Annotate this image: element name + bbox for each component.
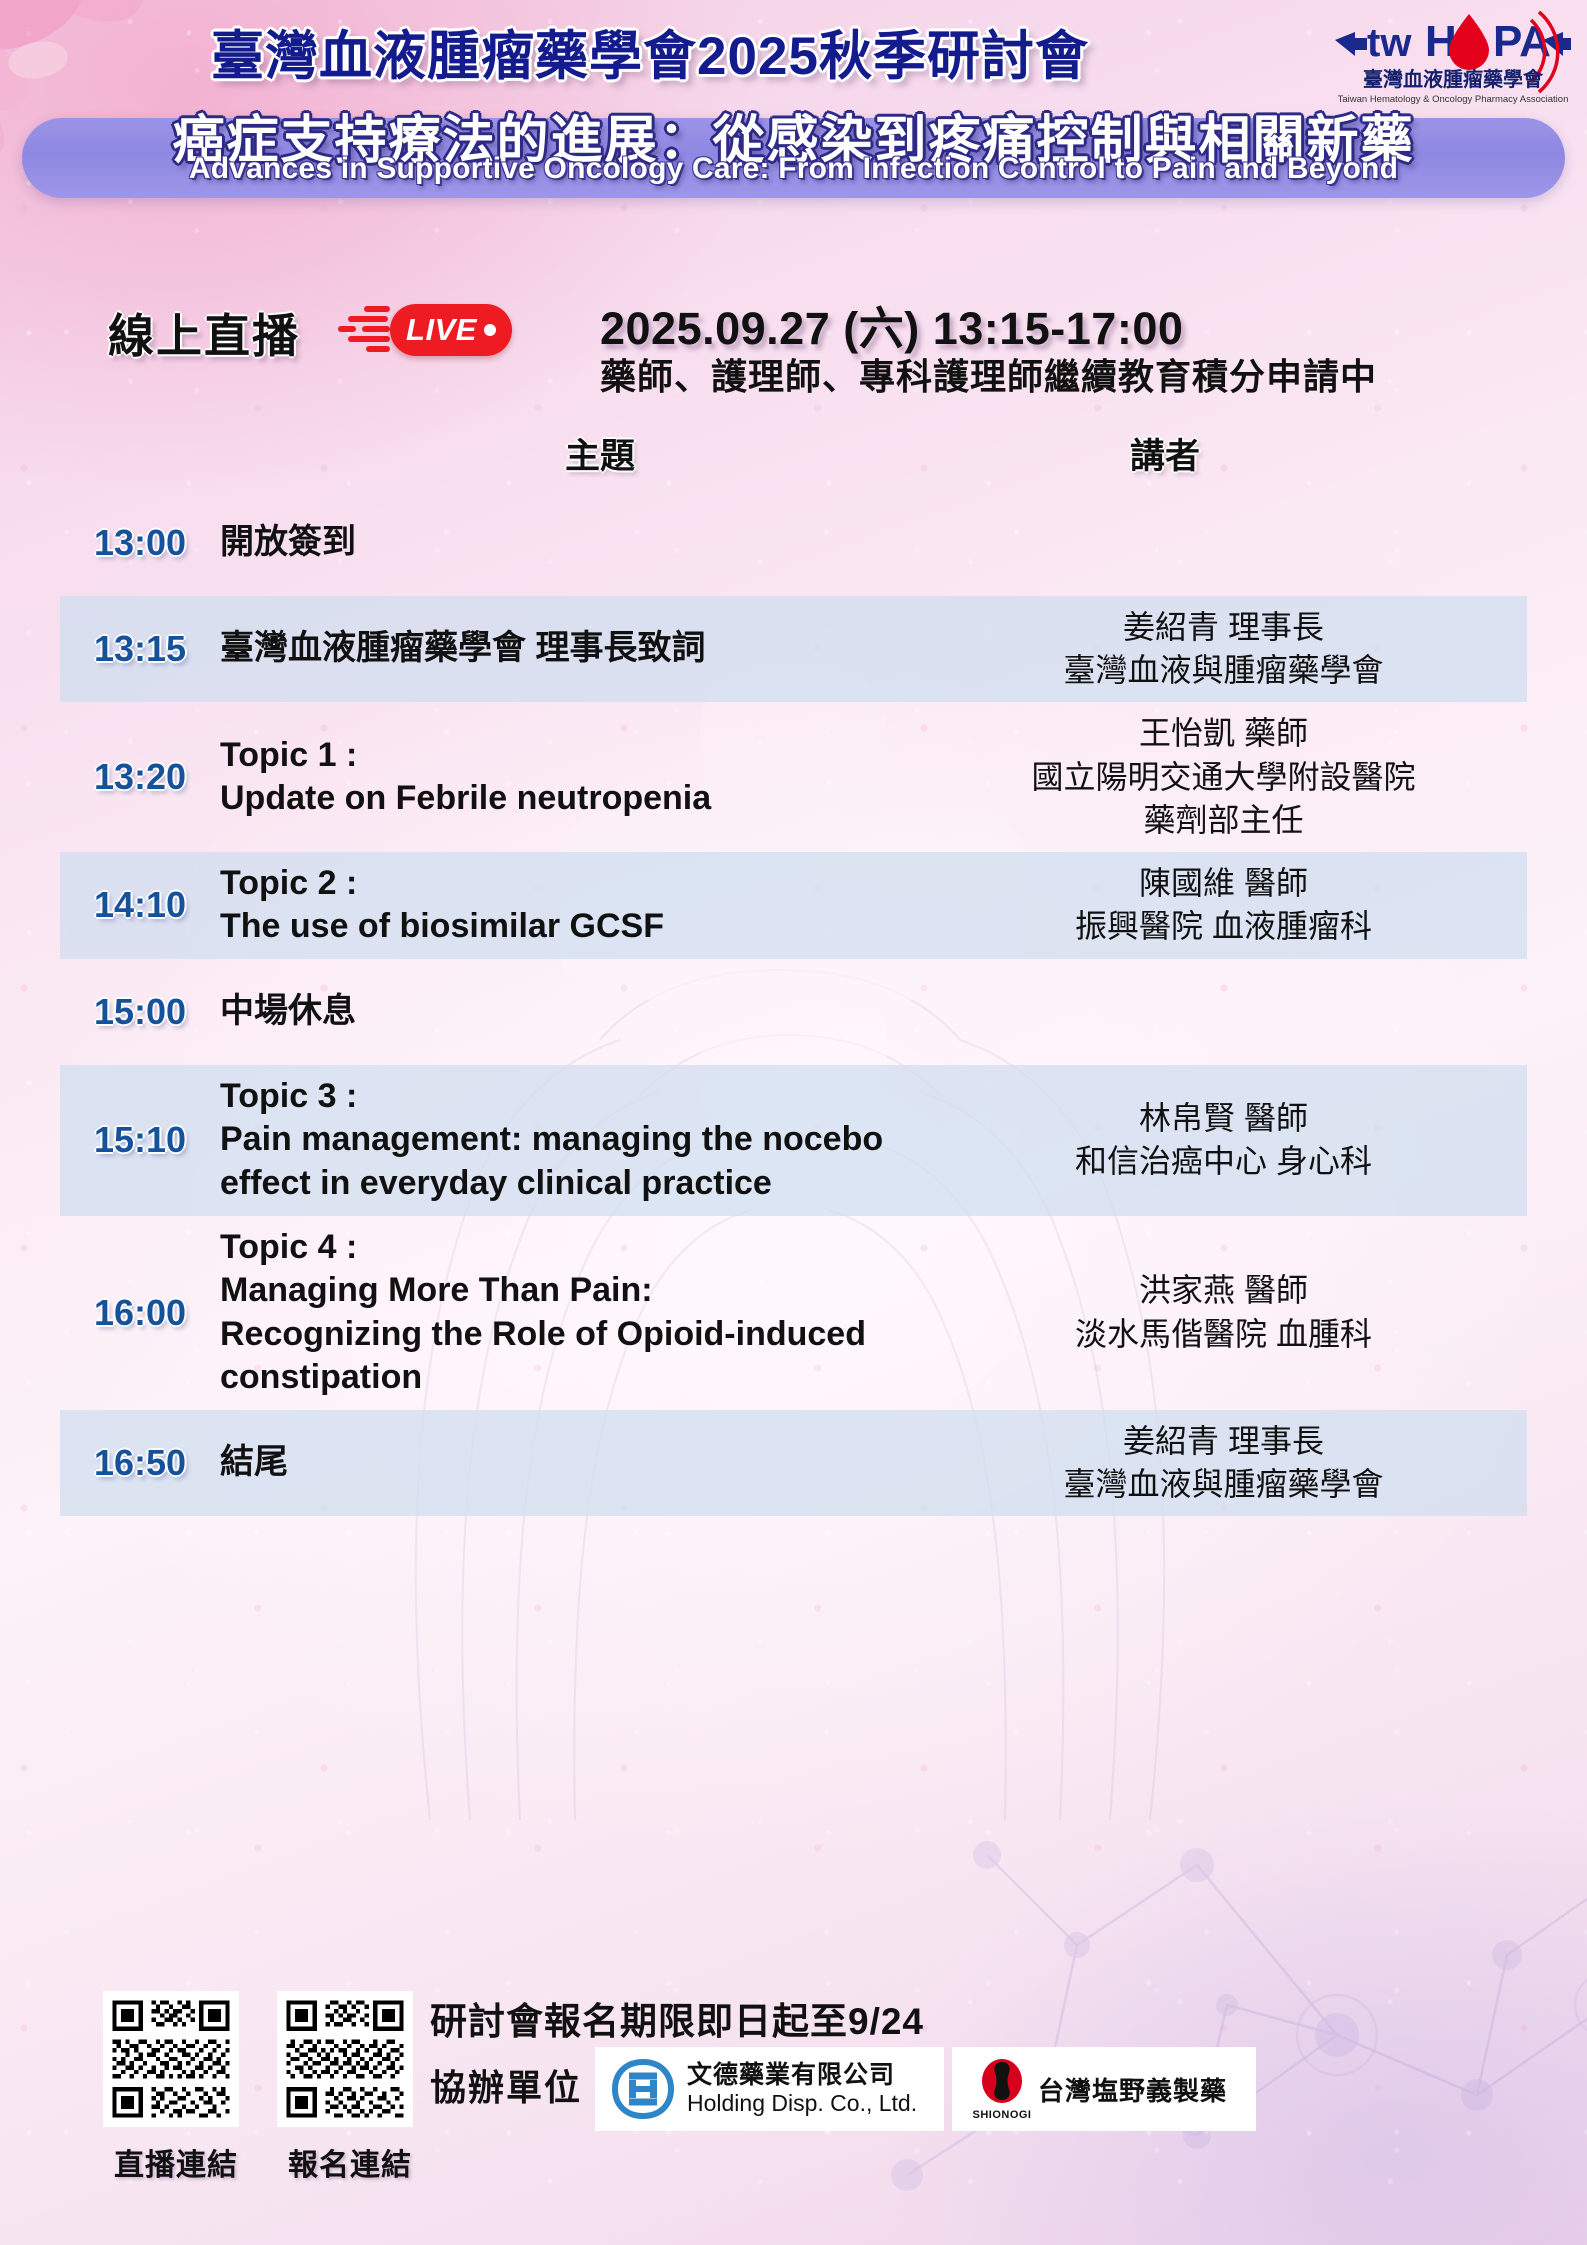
qr-live-caption: 直播連結	[103, 2140, 249, 2184]
row-speaker: 姜紹青 理事長 臺灣血液與腫瘤藥學會	[920, 606, 1527, 692]
row-time: 14:10	[60, 884, 220, 926]
row-topic: 中場休息	[220, 990, 920, 1034]
schedule-row: 16:50結尾姜紹青 理事長 臺灣血液與腫瘤藥學會	[60, 1410, 1527, 1516]
row-topic: Topic 2 : The use of biosimilar GCSF	[220, 862, 920, 949]
sponsor-name-cn: 台灣塩野義製藥	[1038, 2071, 1227, 2108]
row-speaker: 洪家燕 醫師 淡水馬偕醫院 血腫科	[920, 1269, 1527, 1355]
live-dot-icon	[484, 324, 496, 336]
live-badge: LIVE	[390, 304, 512, 356]
row-speaker: 陳國維 醫師 振興醫院 血液腫瘤科	[920, 862, 1527, 948]
schedule-row: 16:00Topic 4 : Managing More Than Pain: …	[60, 1216, 1527, 1410]
schedule-table: 主題 講者 13:00開放簽到13:15臺灣血液腫瘤藥學會 理事長致詞姜紹青 理…	[60, 420, 1527, 1516]
row-time: 16:00	[60, 1292, 220, 1334]
shionogi-logo-icon	[980, 2058, 1024, 2104]
poster-canvas: 臺灣血液腫瘤藥學會2025秋季研討會 tw H PA 臺灣血液腫瘤藥學會 Tai…	[0, 0, 1587, 2245]
row-topic: Topic 3 : Pain management: managing the …	[220, 1075, 920, 1206]
schedule-row: 14:10Topic 2 : The use of biosimilar GCS…	[60, 852, 1527, 959]
live-date-row: 線上直播 LIVE 2025.09.27 (六) 13:15-17:00 藥師、…	[0, 290, 1587, 400]
schedule-row: 13:00開放簽到	[60, 490, 1527, 596]
row-time: 16:50	[60, 1442, 220, 1484]
row-topic: 臺灣血液腫瘤藥學會 理事長致詞	[220, 627, 920, 671]
qr-register-block[interactable]: 報名連結	[277, 1991, 423, 2184]
row-topic: Topic 1 : Update on Febrile neutropenia	[220, 734, 920, 821]
row-topic: 結尾	[220, 1441, 920, 1485]
column-header-speaker: 講者	[940, 428, 1390, 479]
schedule-rows: 13:00開放簽到13:15臺灣血液腫瘤藥學會 理事長致詞姜紹青 理事長 臺灣血…	[60, 490, 1527, 1516]
registration-deadline: 研討會報名期限即日起至9/24	[430, 1991, 924, 2045]
holding-disp-logo-icon	[609, 2056, 677, 2122]
sponsor-name-cn: 文德藥業有限公司	[687, 2062, 917, 2090]
sponsor-shionogi: SHIONOGI 台灣塩野義製藥	[952, 2047, 1256, 2131]
row-time: 13:20	[60, 756, 220, 798]
row-speaker: 王怡凱 藥師 國立陽明交通大學附設醫院 藥劑部主任	[920, 712, 1527, 842]
qr-code-register-icon[interactable]	[277, 1991, 413, 2127]
qr-code-live-icon[interactable]	[103, 1991, 239, 2127]
qr-register-caption: 報名連結	[277, 2140, 423, 2184]
schedule-header-row: 主題 講者	[60, 420, 1527, 490]
live-badge-text: LIVE	[406, 312, 477, 348]
column-header-topic: 主題	[320, 428, 880, 479]
poster-header: 臺灣血液腫瘤藥學會2025秋季研討會 tw H PA 臺灣血液腫瘤藥學會 Tai…	[0, 0, 1587, 290]
live-stream-label: 線上直播	[108, 300, 300, 366]
svg-text:tw: tw	[1367, 21, 1412, 65]
poster-footer: 直播連結	[0, 1955, 1587, 2245]
logo-name-cn: 臺灣血液腫瘤藥學會	[1363, 67, 1544, 91]
twhopa-logo: tw H PA 臺灣血液腫瘤藥學會 Taiwan Hematology & On…	[1333, 8, 1573, 112]
ce-credit-note: 藥師、護理師、專科護理師繼續教育積分申請中	[600, 348, 1377, 400]
sponsor-name-en: Holding Disp. Co., Ltd.	[687, 2090, 917, 2116]
qr-live-block[interactable]: 直播連結	[103, 1991, 249, 2184]
row-speaker: 姜紹青 理事長 臺灣血液與腫瘤藥學會	[920, 1420, 1527, 1506]
row-time: 13:15	[60, 628, 220, 670]
sponsor-shionogi-wordmark: SHIONOGI	[966, 2109, 1038, 2121]
row-speaker: 林帛賢 醫師 和信治癌中心 身心科	[920, 1097, 1527, 1183]
coorganizer-label: 協辦單位	[430, 2059, 582, 2111]
row-time: 13:00	[60, 522, 220, 564]
schedule-row: 13:20Topic 1 : Update on Febrile neutrop…	[60, 702, 1527, 852]
schedule-row: 15:10Topic 3 : Pain management: managing…	[60, 1065, 1527, 1216]
row-topic: 開放簽到	[220, 521, 920, 565]
schedule-row: 15:00中場休息	[60, 959, 1527, 1065]
row-time: 15:00	[60, 991, 220, 1033]
sponsor-holding-disp: 文德藥業有限公司 Holding Disp. Co., Ltd.	[595, 2047, 944, 2131]
row-topic: Topic 4 : Managing More Than Pain: Recog…	[220, 1226, 920, 1400]
speed-lines-icon	[338, 304, 394, 356]
schedule-row: 13:15臺灣血液腫瘤藥學會 理事長致詞姜紹青 理事長 臺灣血液與腫瘤藥學會	[60, 596, 1527, 702]
page-title: 臺灣血液腫瘤藥學會2025秋季研討會	[0, 14, 1300, 90]
subtitle-english: Advances in Supportive Oncology Care: Fr…	[22, 152, 1565, 186]
row-time: 15:10	[60, 1119, 220, 1161]
